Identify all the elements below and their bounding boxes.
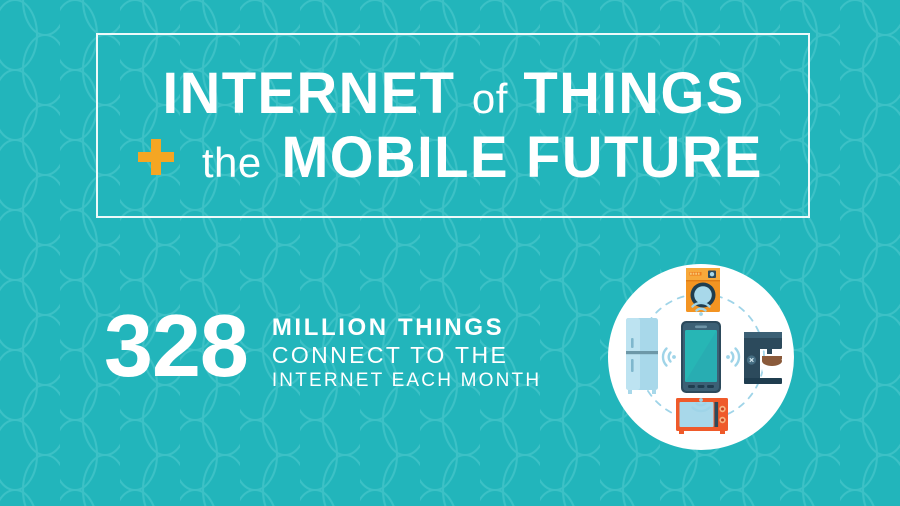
iot-illustration bbox=[604, 260, 798, 454]
refrigerator-icon bbox=[626, 318, 658, 394]
washing-machine-icon bbox=[686, 268, 720, 312]
title-mobile-future: MOBILE FUTURE bbox=[281, 129, 762, 187]
infographic-canvas: INTERNET of THINGS the MOBILE FUTURE 328… bbox=[0, 0, 900, 506]
smartphone-icon bbox=[681, 321, 721, 393]
title-things: THINGS bbox=[523, 65, 744, 123]
title-block: INTERNET of THINGS the MOBILE FUTURE bbox=[96, 33, 810, 218]
microwave-icon bbox=[676, 398, 728, 434]
stat-number: 328 bbox=[104, 306, 248, 387]
stat-label-line-1: MILLION THINGS bbox=[272, 316, 541, 340]
title-the: the bbox=[190, 142, 274, 184]
title-line-2: the MOBILE FUTURE bbox=[136, 129, 770, 187]
plus-icon bbox=[136, 137, 176, 177]
stat-label-line-3: INTERNET EACH MONTH bbox=[272, 371, 541, 390]
stat-label-group: MILLION THINGS CONNECT TO THE INTERNET E… bbox=[272, 306, 541, 390]
stat-label-line-2: CONNECT TO THE bbox=[272, 344, 541, 367]
title-of: of bbox=[460, 78, 520, 120]
stat-block: 328 MILLION THINGS CONNECT TO THE INTERN… bbox=[104, 306, 541, 390]
title-internet: INTERNET bbox=[162, 65, 455, 123]
title-line-1: INTERNET of THINGS bbox=[158, 65, 748, 123]
